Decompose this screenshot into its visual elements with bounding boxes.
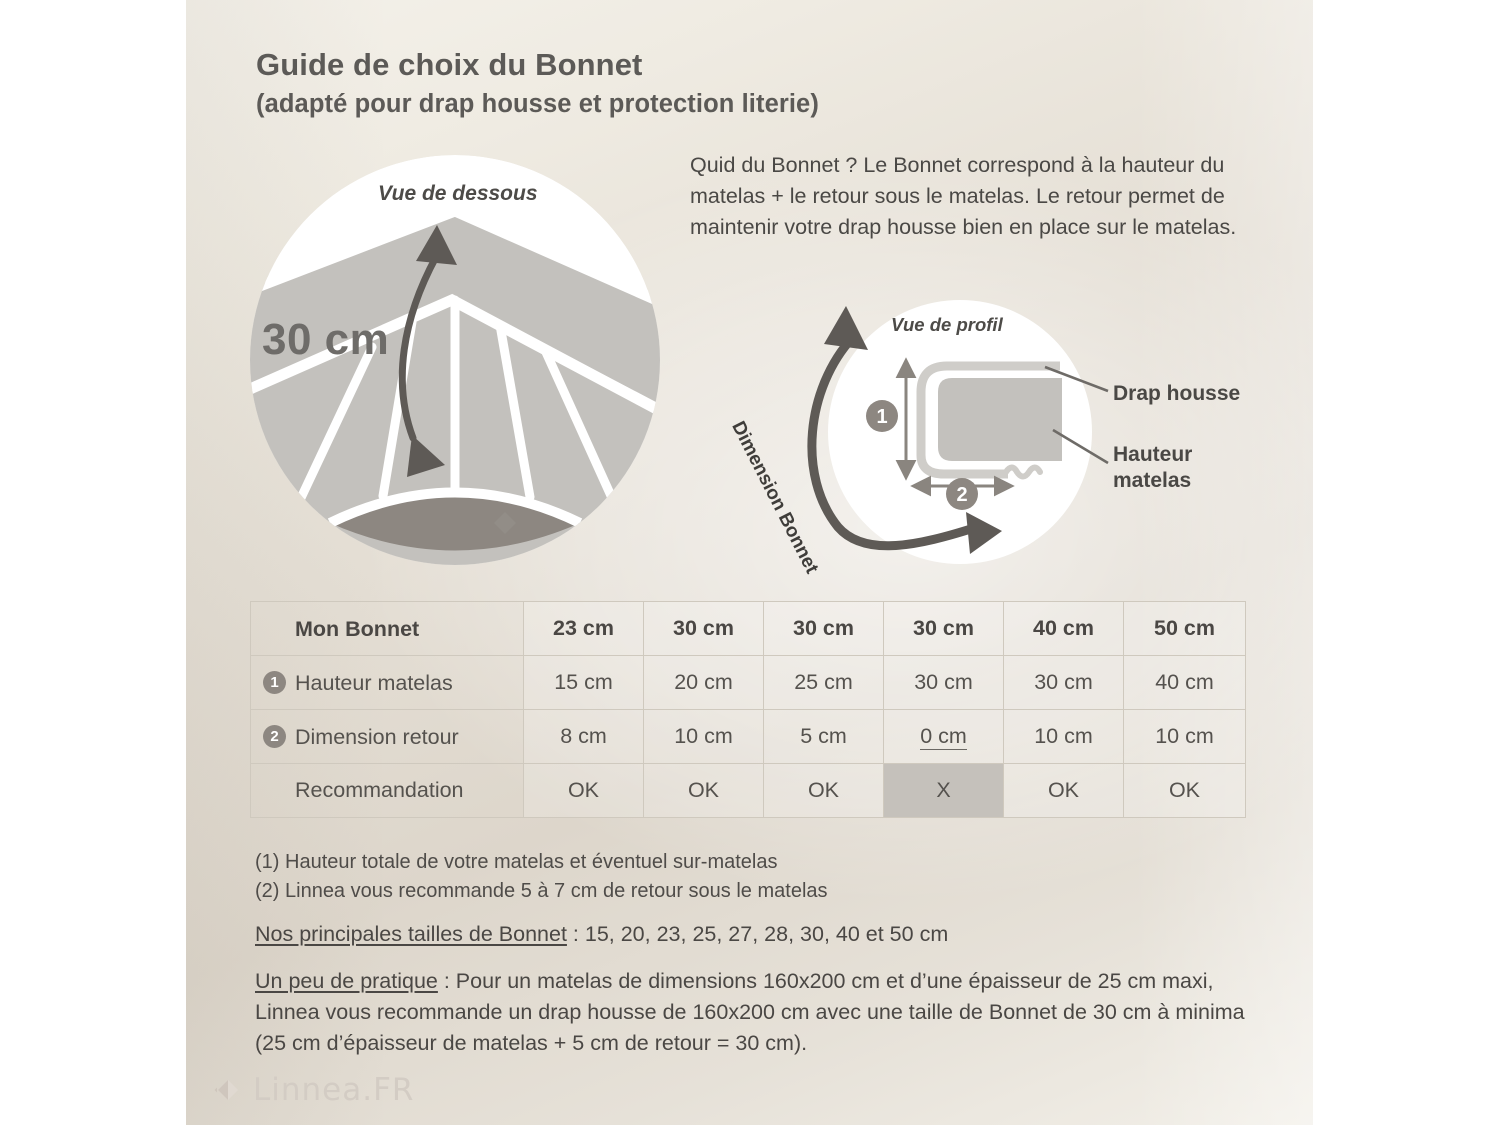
title-main: Guide de choix du Bonnet — [256, 47, 819, 84]
cell-reco-5: OK — [1124, 764, 1246, 818]
label-hauteur-matelas: Hauteur matelas — [1113, 442, 1192, 495]
row-header-recommandation: Recommandation — [251, 764, 524, 818]
sizes-label: Nos principales tailles de Bonnet — [255, 922, 567, 946]
cell-reco-0: OK — [524, 764, 644, 818]
cell-hauteur-1: 20 cm — [644, 656, 764, 710]
cell-hauteur-5: 40 cm — [1124, 656, 1246, 710]
caption-vue-de-profil: Vue de profil — [891, 314, 1003, 336]
label-hauteur-line1: Hauteur — [1113, 443, 1192, 466]
cell-hauteur-2: 25 cm — [764, 656, 884, 710]
table-row-retour: 2Dimension retour 8 cm 10 cm 5 cm 0 cm 1… — [251, 710, 1246, 764]
label-30-cm: 30 cm — [262, 315, 389, 365]
cell-reco-1: OK — [644, 764, 764, 818]
cell-bonnet-3: 30 cm — [884, 602, 1004, 656]
label-hauteur-line2: matelas — [1113, 469, 1191, 492]
linnea-logo[interactable]: Linnea.FR — [214, 1072, 414, 1108]
cell-bonnet-5: 50 cm — [1124, 602, 1246, 656]
row-header-label: Hauteur matelas — [295, 670, 453, 694]
page-title: Guide de choix du Bonnet (adapté pour dr… — [256, 47, 819, 119]
footnotes: (1) Hauteur totale de votre matelas et é… — [255, 848, 828, 906]
cell-retour-2: 5 cm — [764, 710, 884, 764]
linnea-logo-text: Linnea.FR — [253, 1072, 414, 1108]
cell-reco-4: OK — [1004, 764, 1124, 818]
footnote-2: (2) Linnea vous recommande 5 à 7 cm de r… — [255, 877, 828, 906]
row-header-hauteur-matelas: 1Hauteur matelas — [251, 656, 524, 710]
sizes-value: : 15, 20, 23, 25, 27, 28, 30, 40 et 50 c… — [567, 922, 948, 946]
table-row-hauteur: 1Hauteur matelas 15 cm 20 cm 25 cm 30 cm… — [251, 656, 1246, 710]
intro-paragraph: Quid du Bonnet ? Le Bonnet correspond à … — [690, 150, 1270, 243]
cell-bonnet-2: 30 cm — [764, 602, 884, 656]
title-sub: (adapté pour drap housse et protection l… — [256, 89, 819, 120]
badge-2: 2 — [263, 725, 286, 748]
row-header-label: Recommandation — [263, 778, 464, 802]
cell-reco-2: OK — [764, 764, 884, 818]
cell-retour-0: 8 cm — [524, 710, 644, 764]
bonnet-table: Mon Bonnet 23 cm 30 cm 30 cm 30 cm 40 cm… — [250, 601, 1246, 818]
row-header-dimension-retour: 2Dimension retour — [251, 710, 524, 764]
footnote-1: (1) Hauteur totale de votre matelas et é… — [255, 848, 828, 877]
cell-retour-3-value: 0 cm — [920, 724, 967, 750]
table-row-recommandation: Recommandation OK OK OK X OK OK — [251, 764, 1246, 818]
cell-bonnet-4: 40 cm — [1004, 602, 1124, 656]
table-row-header: Mon Bonnet 23 cm 30 cm 30 cm 30 cm 40 cm… — [251, 602, 1246, 656]
practice-paragraph: Un peu de pratique : Pour un matelas de … — [255, 966, 1245, 1059]
cell-bonnet-1: 30 cm — [644, 602, 764, 656]
cell-hauteur-0: 15 cm — [524, 656, 644, 710]
svg-text:1: 1 — [876, 406, 887, 428]
cell-retour-4: 10 cm — [1004, 710, 1124, 764]
row-header-mon-bonnet: Mon Bonnet — [251, 602, 524, 656]
cell-retour-3: 0 cm — [884, 710, 1004, 764]
cell-hauteur-3: 30 cm — [884, 656, 1004, 710]
label-drap-housse: Drap housse — [1113, 382, 1240, 406]
sizes-line: Nos principales tailles de Bonnet : 15, … — [255, 919, 948, 949]
diagram-vue-de-profil: 1 2 — [812, 300, 1108, 564]
row-header-label: Mon Bonnet — [295, 616, 419, 640]
caption-vue-de-dessous: Vue de dessous — [378, 182, 538, 206]
cell-bonnet-0: 23 cm — [524, 602, 644, 656]
infographic-page: 1 2 Guide de choix du Bonnet (adapté pou… — [0, 0, 1500, 1125]
linnea-diamond-icon — [214, 1076, 242, 1104]
row-header-label: Dimension retour — [295, 724, 459, 748]
cell-retour-5: 10 cm — [1124, 710, 1246, 764]
cell-hauteur-4: 30 cm — [1004, 656, 1124, 710]
cell-retour-1: 10 cm — [644, 710, 764, 764]
cell-reco-3: X — [884, 764, 1004, 818]
diagram-vue-de-dessous — [216, 155, 702, 668]
svg-text:2: 2 — [956, 484, 967, 506]
badge-1: 1 — [263, 671, 286, 694]
practice-label: Un peu de pratique — [255, 969, 438, 993]
